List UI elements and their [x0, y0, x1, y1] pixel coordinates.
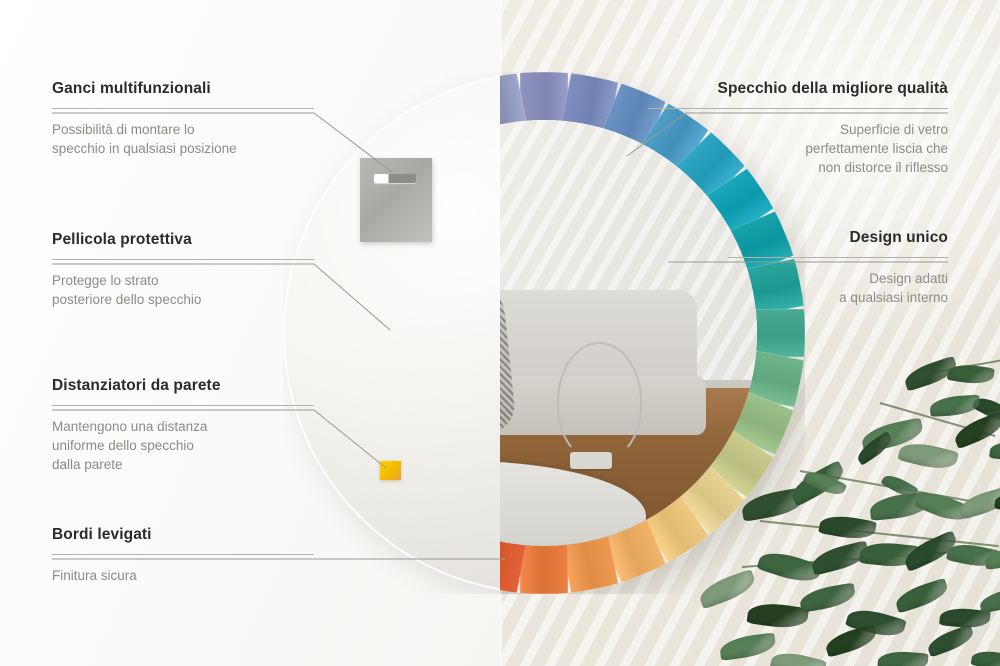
callout-description: Superficie di vetroperfettamente liscia … — [648, 120, 948, 177]
hook-slot-icon — [374, 174, 416, 183]
callout-rule — [52, 554, 314, 555]
callout-rule — [728, 257, 948, 258]
callout-bordi-levigati: Bordi levigati Finitura sicura — [52, 526, 314, 585]
callout-title: Distanziatori da parete — [52, 377, 314, 396]
callout-title: Ganci multifunzionali — [52, 80, 314, 99]
callout-rule — [52, 108, 314, 109]
callout-title: Pellicola protettiva — [52, 231, 314, 250]
callout-description: Protegge lo stratoposteriore dello specc… — [52, 271, 314, 309]
callout-description: Design adattia qualsiasi interno — [728, 269, 948, 307]
callout-rule — [52, 259, 314, 260]
callout-description: Finitura sicura — [52, 566, 314, 585]
callout-description: Possibilità di montare lospecchio in qua… — [52, 120, 314, 158]
callout-design-unico: Design unico Design adattia qualsiasi in… — [728, 229, 948, 307]
foliage-leaf — [877, 650, 928, 666]
callout-title: Design unico — [728, 229, 948, 248]
foliage-leaf — [929, 395, 980, 417]
callout-title: Specchio della migliore qualità — [648, 80, 948, 99]
reflection-lamp-base — [570, 452, 613, 469]
callout-description: Mantengono una distanzauniforme dello sp… — [52, 417, 314, 474]
callout-distanziatori-da-parete: Distanziatori da parete Mantengono una d… — [52, 377, 314, 474]
mounting-hook-plate — [360, 158, 432, 242]
callout-rule — [52, 405, 314, 406]
wall-spacer-chip — [380, 461, 401, 480]
callout-specchio-migliore-qualita: Specchio della migliore qualità Superfic… — [648, 80, 948, 177]
callout-ganci-multifunzionali: Ganci multifunzionali Possibilità di mon… — [52, 80, 314, 158]
foliage-leaf — [994, 492, 1000, 512]
callout-title: Bordi levigati — [52, 526, 314, 545]
infographic-stage: Ganci multifunzionali Possibilità di mon… — [0, 0, 1000, 666]
reflection-floor-lamp — [557, 342, 642, 461]
callout-rule — [648, 108, 948, 109]
callout-pellicola-protettiva: Pellicola protettiva Protegge lo stratop… — [52, 231, 314, 309]
